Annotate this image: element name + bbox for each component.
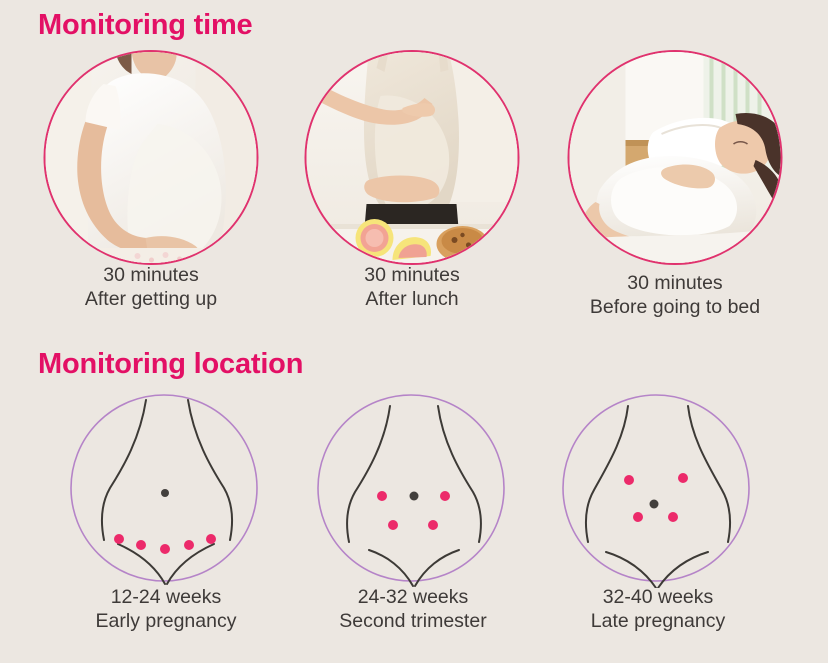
caption-line-1: 12-24 weeks bbox=[96, 586, 237, 610]
caption-wrap-late-pregnancy: 32-40 weeks Late pregnancy bbox=[520, 586, 796, 646]
caption-line-2: After getting up bbox=[85, 288, 217, 312]
monitoring-dot bbox=[184, 540, 194, 550]
caption-late-pregnancy: 32-40 weeks Late pregnancy bbox=[591, 586, 725, 634]
monitoring-dot bbox=[388, 520, 398, 530]
caption-line-2: Early pregnancy bbox=[96, 610, 237, 634]
groin-right-line bbox=[167, 544, 214, 584]
monitoring-dot bbox=[114, 534, 124, 544]
monitoring-dot bbox=[624, 475, 634, 485]
monitoring-dot bbox=[633, 512, 643, 522]
illustration-pregnant-woman-standing bbox=[46, 52, 257, 263]
torso-right-contour bbox=[438, 406, 481, 542]
caption-line-1: 32-40 weeks bbox=[591, 586, 725, 610]
illustration-pregnant-woman-in-bed bbox=[570, 52, 781, 263]
monitoring-location-row bbox=[0, 392, 828, 588]
caption-line-1: 30 minutes bbox=[590, 272, 760, 296]
monitoring-dot bbox=[678, 473, 688, 483]
caption-line-1: 24-32 weeks bbox=[339, 586, 486, 610]
photo-circle-after-lunch bbox=[305, 50, 520, 265]
caption-line-2: Second trimester bbox=[339, 610, 486, 634]
section-heading-monitoring-location: Monitoring location bbox=[38, 348, 303, 381]
monitoring-dot bbox=[428, 520, 438, 530]
caption-line-2: Late pregnancy bbox=[591, 610, 725, 634]
monitoring-dot bbox=[136, 540, 146, 550]
monitoring-dot bbox=[377, 491, 387, 501]
caption-line-1: 30 minutes bbox=[364, 264, 459, 288]
monitoring-dot bbox=[160, 544, 170, 554]
caption-wrap-after-getting-up: 30 minutes After getting up bbox=[13, 264, 289, 324]
diagram-abdomen-four-dots-navel-level bbox=[315, 392, 511, 588]
monitoring-dot bbox=[206, 534, 216, 544]
monitoring-dot bbox=[668, 512, 678, 522]
photo-circle-before-going-to-bed bbox=[568, 50, 783, 265]
torso-left-contour bbox=[347, 406, 390, 542]
monitoring-time-item-2 bbox=[537, 48, 813, 278]
caption-wrap-second-trimester: 24-32 weeks Second trimester bbox=[275, 586, 551, 646]
monitoring-location-item-2 bbox=[520, 392, 796, 588]
caption-wrap-before-going-to-bed: 30 minutes Before going to bed bbox=[537, 272, 813, 332]
caption-line-2: Before going to bed bbox=[590, 296, 760, 320]
caption-line-1: 30 minutes bbox=[85, 264, 217, 288]
diagram-abdomen-four-dots-diamond bbox=[560, 392, 756, 588]
illustration-pregnant-woman-after-lunch bbox=[307, 52, 518, 263]
monitoring-dot bbox=[440, 491, 450, 501]
navel-marker bbox=[650, 500, 659, 509]
caption-second-trimester: 24-32 weeks Second trimester bbox=[339, 586, 486, 634]
monitoring-location-item-0 bbox=[28, 392, 304, 588]
diagram-abdomen-five-dots-low-arc bbox=[68, 392, 264, 588]
torso-left-contour bbox=[102, 400, 146, 540]
infographic-page: Monitoring time bbox=[0, 0, 828, 663]
monitoring-time-item-0 bbox=[13, 48, 289, 278]
caption-wrap-after-lunch: 30 minutes After lunch bbox=[274, 264, 550, 324]
caption-before-going-to-bed: 30 minutes Before going to bed bbox=[590, 272, 760, 320]
caption-wrap-early-pregnancy: 12-24 weeks Early pregnancy bbox=[28, 586, 304, 646]
navel-marker bbox=[161, 489, 169, 497]
photo-circle-after-getting-up bbox=[44, 50, 259, 265]
torso-right-contour bbox=[688, 406, 730, 542]
caption-early-pregnancy: 12-24 weeks Early pregnancy bbox=[96, 586, 237, 634]
caption-after-lunch: 30 minutes After lunch bbox=[364, 264, 459, 312]
caption-after-getting-up: 30 minutes After getting up bbox=[85, 264, 217, 312]
diagram-boundary-circle bbox=[318, 395, 504, 581]
section-heading-monitoring-time: Monitoring time bbox=[38, 9, 252, 42]
caption-line-2: After lunch bbox=[364, 288, 459, 312]
monitoring-location-item-1 bbox=[275, 392, 551, 588]
monitoring-time-item-1 bbox=[274, 48, 550, 278]
navel-marker bbox=[410, 492, 419, 501]
monitoring-time-row bbox=[0, 48, 828, 278]
torso-left-contour bbox=[586, 406, 628, 542]
torso-right-contour bbox=[188, 400, 232, 540]
